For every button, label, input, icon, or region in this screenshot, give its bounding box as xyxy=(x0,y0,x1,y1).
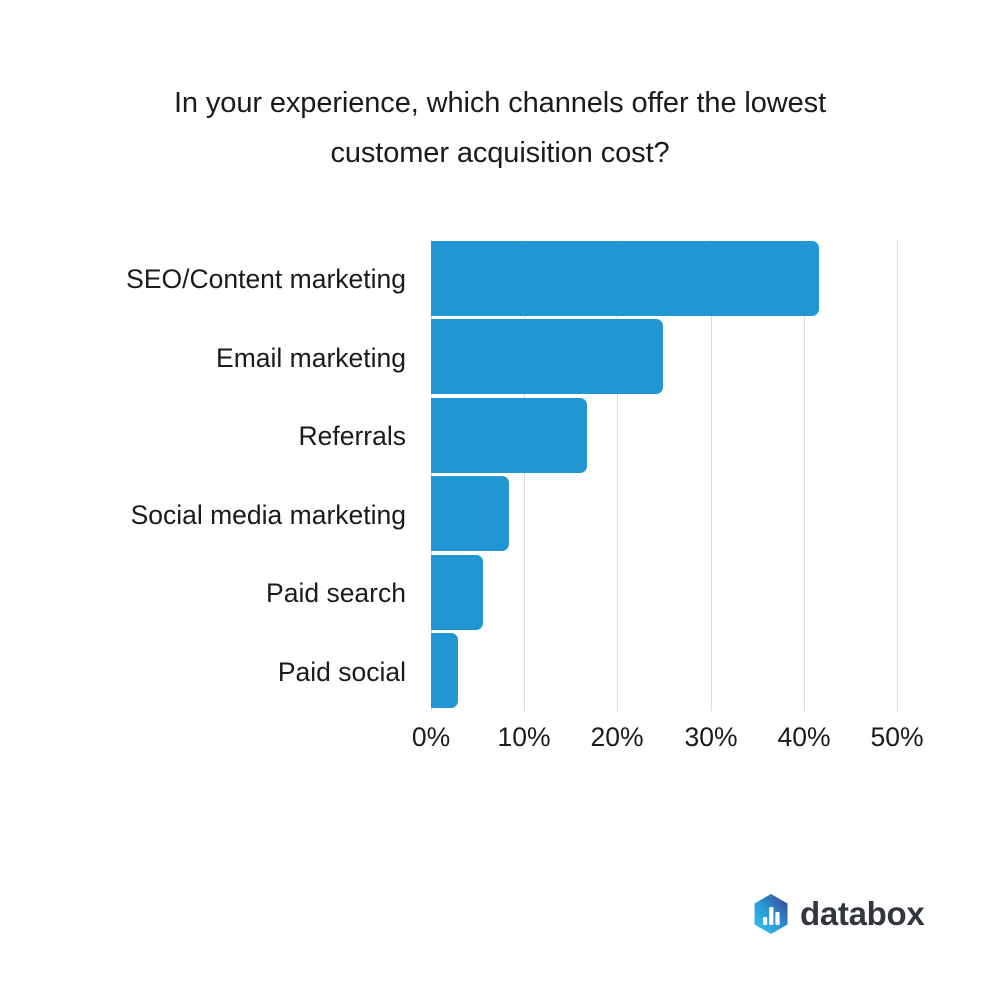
bar-referrals[interactable] xyxy=(431,398,587,473)
category-label-referrals: Referrals xyxy=(20,397,406,476)
bar-row xyxy=(431,397,897,476)
x-tick-label-30: 30% xyxy=(684,722,737,753)
databox-wordmark: databox xyxy=(800,893,924,935)
bar-paid-search[interactable] xyxy=(431,555,483,630)
bar-paid-social[interactable] xyxy=(431,633,458,708)
category-label-paid-search: Paid search xyxy=(20,554,406,633)
bar-seo-content-marketing[interactable] xyxy=(431,241,819,316)
category-label-paid-social: Paid social xyxy=(20,633,406,712)
bar-row xyxy=(431,240,897,319)
chart-card: In your experience, which channels offer… xyxy=(0,0,1000,1000)
x-tick-label-20: 20% xyxy=(590,722,643,753)
category-label-seo-content-marketing: SEO/Content marketing xyxy=(20,240,406,319)
bar-series xyxy=(431,240,897,711)
bar-row xyxy=(431,319,897,398)
chart-title-line-1: In your experience, which channels offer… xyxy=(80,78,920,128)
bar-row xyxy=(431,554,897,633)
x-tick-label-50: 50% xyxy=(870,722,923,753)
category-label-social-media-marketing: Social media marketing xyxy=(20,476,406,555)
plot-area xyxy=(431,240,897,711)
chart-title: In your experience, which channels offer… xyxy=(80,78,920,178)
bar-row xyxy=(431,633,897,712)
bar-social-media-marketing[interactable] xyxy=(431,476,509,551)
chart-title-line-2: customer acquisition cost? xyxy=(80,128,920,178)
bar-email-marketing[interactable] xyxy=(431,319,663,394)
x-tick-label-0: 0% xyxy=(412,722,450,753)
bar-row xyxy=(431,476,897,555)
gridline-50 xyxy=(897,240,898,711)
x-tick-label-40: 40% xyxy=(777,722,830,753)
category-axis-labels: SEO/Content marketing Email marketing Re… xyxy=(20,240,406,711)
category-label-email-marketing: Email marketing xyxy=(20,319,406,398)
databox-hexagon-bars-icon xyxy=(752,893,790,935)
x-axis-tick-labels: 0% 10% 20% 30% 40% 50% xyxy=(431,722,897,762)
x-tick-label-10: 10% xyxy=(497,722,550,753)
databox-logo: databox xyxy=(752,893,924,935)
